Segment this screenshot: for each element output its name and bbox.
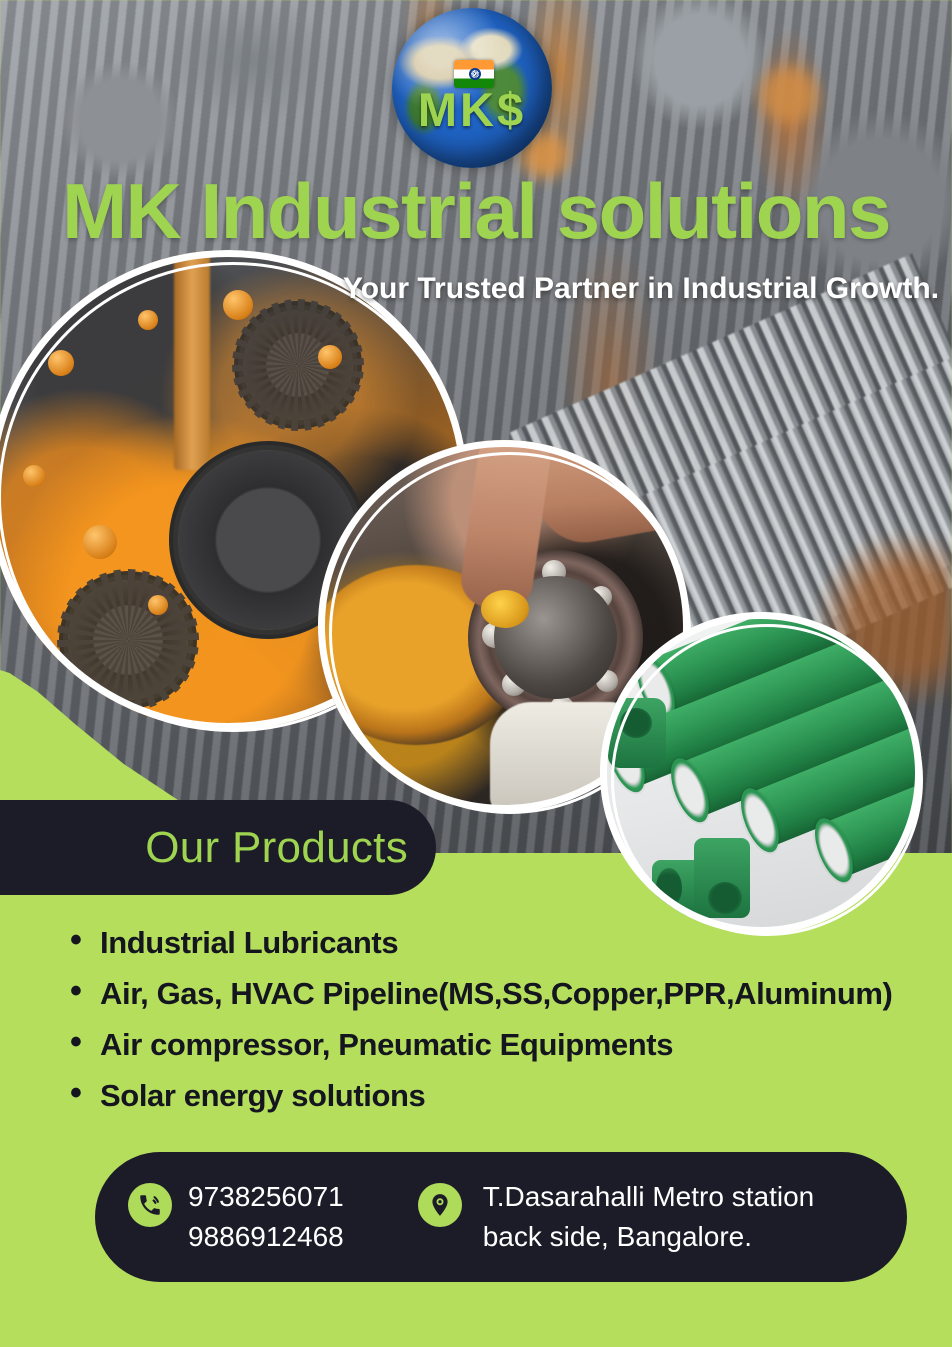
gear-icon — [68, 580, 188, 700]
ppr-elbow-fitting-icon — [652, 838, 752, 922]
oil-droplet-icon — [83, 525, 117, 559]
list-item: Air compressor, Pneumatic Equipments — [62, 1027, 942, 1063]
oil-droplet-icon — [138, 310, 158, 330]
contact-phone-group[interactable]: 9738256071 9886912468 — [128, 1177, 344, 1257]
page-title: MK Industrial solutions — [0, 172, 952, 250]
oil-stream-icon — [174, 250, 210, 470]
address-line-2: back side, Bangalore. — [483, 1217, 814, 1257]
bearing-ball-icon — [590, 586, 612, 608]
bearing-ball-icon — [542, 560, 566, 584]
phone-secondary: 9886912468 — [188, 1217, 344, 1257]
oil-droplet-icon — [23, 465, 45, 487]
brand-logo: MK$ — [392, 8, 552, 168]
product-list: Industrial Lubricants Air, Gas, HVAC Pip… — [62, 925, 942, 1129]
address-text: T.Dasarahalli Metro station back side, B… — [483, 1177, 814, 1257]
photo-circle-ppr-pipes — [600, 612, 922, 934]
bearing-ball-icon — [502, 672, 526, 696]
address-line-1: T.Dasarahalli Metro station — [483, 1181, 814, 1212]
contact-bar: 9738256071 9886912468 T.Dasarahalli Metr… — [95, 1152, 907, 1282]
location-pin-icon — [418, 1183, 462, 1227]
logo-text: MK$ — [392, 82, 552, 137]
oil-droplet-icon — [223, 290, 253, 320]
phone-icon — [128, 1183, 172, 1227]
ppr-socket-fitting-icon — [608, 698, 678, 772]
list-item: Air, Gas, HVAC Pipeline(MS,SS,Copper,PPR… — [62, 976, 942, 1012]
phone-primary: 9738256071 — [188, 1181, 344, 1212]
ppr-pipes-image — [600, 612, 922, 934]
list-item: Solar energy solutions — [62, 1078, 942, 1114]
our-products-heading-pill: Our Products — [0, 800, 436, 895]
poster-canvas: MK$ MK Industrial solutions Your Trusted… — [0, 0, 952, 1347]
contact-address-group[interactable]: T.Dasarahalli Metro station back side, B… — [418, 1177, 814, 1257]
brand-tagline: Your Trusted Partner in Industrial Growt… — [330, 268, 952, 310]
grease-dab-icon — [481, 590, 529, 628]
our-products-label: Our Products — [145, 823, 408, 873]
oil-droplet-icon — [318, 345, 342, 369]
ashoka-chakra-icon — [469, 68, 481, 80]
oil-droplet-icon — [48, 350, 74, 376]
oil-droplet-icon — [148, 595, 168, 615]
phone-numbers: 9738256071 9886912468 — [188, 1177, 344, 1257]
list-item: Industrial Lubricants — [62, 925, 942, 961]
